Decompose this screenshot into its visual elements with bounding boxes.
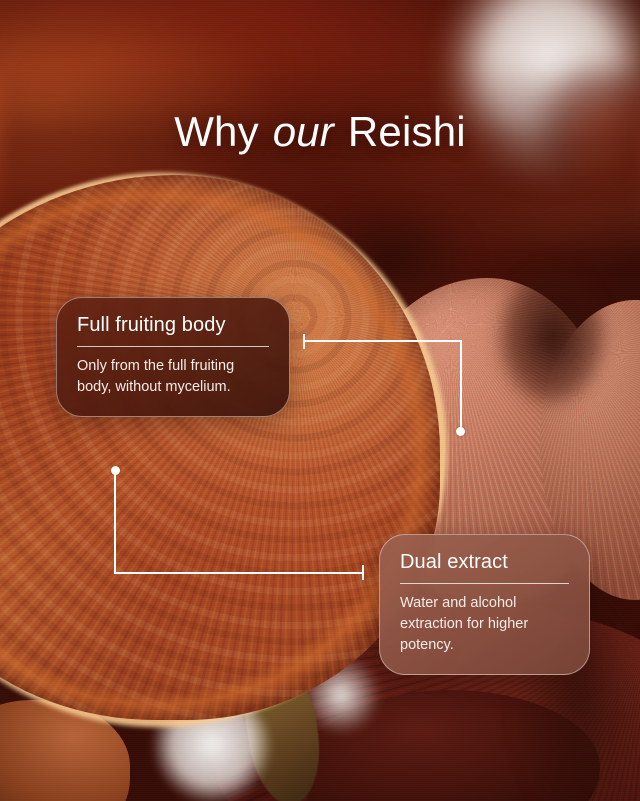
callout-card-title: Dual extract [400, 551, 569, 574]
page-title-emphasis: our [271, 108, 336, 155]
page-title-suffix: Reishi [348, 108, 466, 155]
callout-card-full-fruiting-body[interactable]: Full fruiting body Only from the full fr… [56, 297, 290, 417]
callout-card-divider [77, 346, 269, 347]
callout-card-dual-extract[interactable]: Dual extract Water and alcohol extractio… [379, 534, 590, 675]
page-title-prefix: Why [174, 108, 259, 155]
reishi-benefits-graphic: Why our Reishi Full fruiting body Only f… [0, 0, 640, 801]
callout-card-divider [400, 583, 569, 584]
page-title: Why our Reishi [0, 108, 640, 156]
callout-card-body: Water and alcohol extraction for higher … [400, 593, 569, 656]
callout-card-title: Full fruiting body [77, 314, 269, 337]
callout-card-body: Only from the full fruiting body, withou… [77, 356, 269, 398]
shadow-gap-right [492, 262, 612, 412]
